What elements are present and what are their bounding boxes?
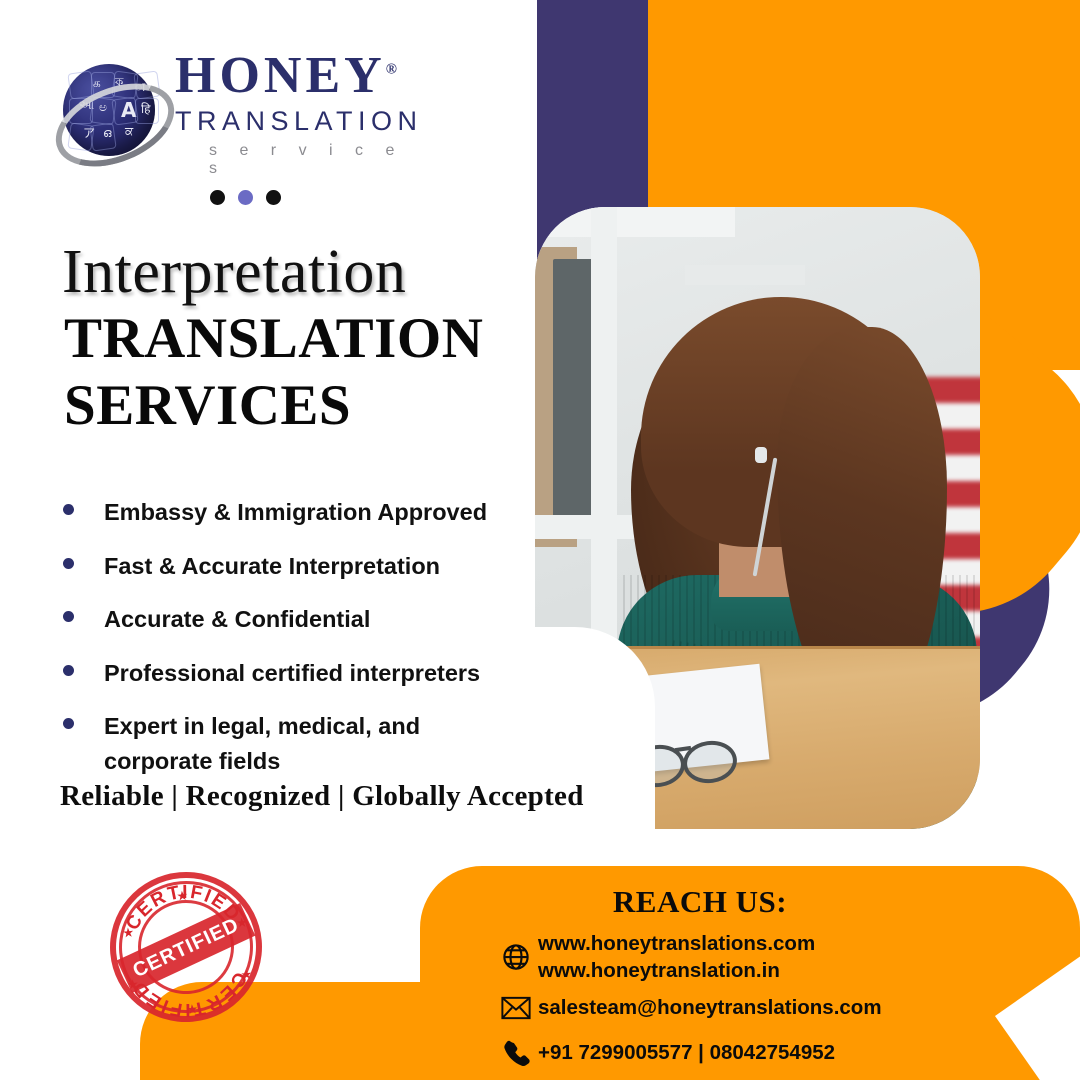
bullet-dot-icon (63, 504, 74, 515)
envelope-icon (494, 995, 538, 1021)
contact-row-phone[interactable]: +91 7299005577 | 08042754952 (494, 1038, 835, 1068)
dot-2 (238, 190, 253, 205)
globe-languages-icon: கকाઆಅAहिアഒਕ (55, 58, 163, 166)
bullet-dot-icon (63, 558, 74, 569)
list-item-label: Embassy & Immigration Approved (104, 495, 487, 530)
globe-icon (494, 942, 538, 972)
dot-3 (266, 190, 281, 205)
certified-stamp-icon: CERTIFIED CERTIFIED CERTIFIED ★★★★★★ (104, 866, 268, 1029)
list-item: Fast & Accurate Interpretation (55, 549, 525, 584)
list-item: Accurate & Confidential (55, 602, 525, 637)
list-item-label: Professional certified interpreters (104, 656, 480, 691)
stamp-star-icon: ★ (186, 1001, 199, 1018)
email-address[interactable]: salesteam@honeytranslations.com (538, 994, 882, 1021)
contact-row-website[interactable]: www.honeytranslations.com www.honeytrans… (494, 930, 815, 984)
website-primary[interactable]: www.honeytranslations.com (538, 930, 815, 957)
phone-number[interactable]: +91 7299005577 | 08042754952 (538, 1039, 835, 1066)
brand-logo[interactable]: கকाઆಅAहिアഒਕ HONEY® TRANSLATION s e r v i… (55, 50, 415, 180)
bullet-dot-icon (63, 718, 74, 729)
contact-heading: REACH US: (420, 884, 980, 920)
headline-main: TRANSLATION SERVICES (64, 305, 483, 440)
stamp-star-icon: ★ (126, 976, 139, 993)
registered-trademark-icon: ® (386, 62, 397, 78)
headline-script: Interpretation (62, 237, 406, 308)
website-secondary[interactable]: www.honeytranslation.in (538, 957, 815, 984)
headline-line-1: TRANSLATION (64, 305, 483, 372)
list-item: Expert in legal, medical, and corporate … (55, 709, 525, 778)
bullet-dot-icon (63, 665, 74, 676)
stamp-star-icon: ★ (240, 966, 253, 983)
dot-1 (210, 190, 225, 205)
logo-line-services: s e r v i c e s (175, 142, 423, 178)
bullet-dot-icon (63, 611, 74, 622)
decorative-dots (210, 190, 281, 205)
feature-list: Embassy & Immigration Approved Fast & Ac… (55, 495, 525, 797)
stamp-star-icon: ★ (176, 888, 189, 905)
tagline: Reliable | Recognized | Globally Accepte… (60, 780, 584, 813)
list-item: Embassy & Immigration Approved (55, 495, 525, 530)
contact-row-email[interactable]: salesteam@honeytranslations.com (494, 994, 882, 1021)
list-item-label: Accurate & Confidential (104, 602, 370, 637)
stamp-star-icon: ★ (122, 924, 135, 941)
poster-canvas: கকाઆಅAहिアഒਕ HONEY® TRANSLATION s e r v i… (0, 0, 1080, 1080)
stamp-star-icon: ★ (235, 915, 248, 932)
list-item-label: Expert in legal, medical, and corporate … (104, 709, 444, 778)
contact-panel: REACH US: www.honeytranslations.com www.… (420, 866, 1080, 1080)
phone-icon (494, 1038, 538, 1068)
logo-brand-name: HONEY® (175, 50, 423, 102)
headline-line-2: SERVICES (64, 372, 483, 439)
logo-line-translation: TRANSLATION (175, 106, 423, 137)
list-item: Professional certified interpreters (55, 656, 525, 691)
list-item-label: Fast & Accurate Interpretation (104, 549, 440, 584)
